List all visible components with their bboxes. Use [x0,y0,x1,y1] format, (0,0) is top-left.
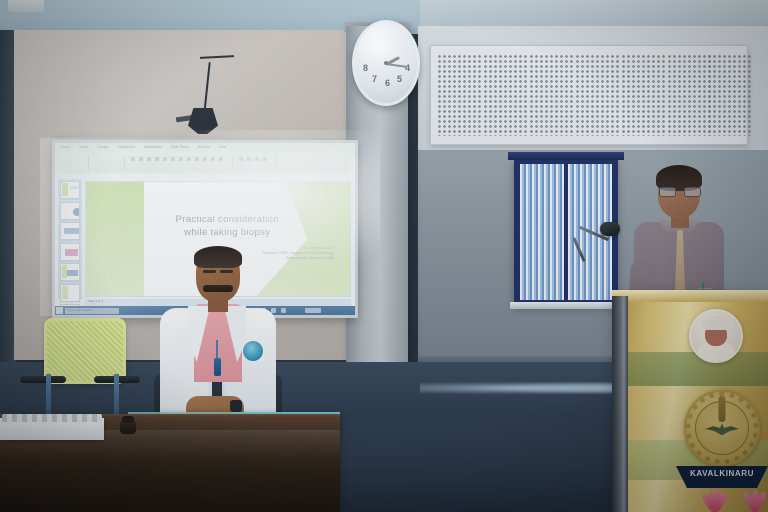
visitor-chair [36,318,128,410]
founder-portrait-medallion [689,309,743,363]
wrist-watch-icon [230,400,242,412]
microphone-icon [600,222,620,236]
crest-torch-icon [719,396,726,422]
id-badge [214,358,221,376]
curtain-rod [508,152,624,160]
desk-object-cap [122,416,134,423]
lecture-hall-photograph: 8 7 6 5 4 Home Insert Design Transitions… [0,0,768,512]
ribbon-tab-review[interactable]: Review [198,145,210,149]
podium-banner: KAVALKINARU [676,466,768,488]
ceiling-light-fixture [8,0,44,12]
clock-icon[interactable] [305,308,321,313]
podium-banner-text: KAVALKINARU [676,466,768,482]
curtain-panel-left [520,164,564,300]
clock-center-pin [384,61,388,65]
lanyard [216,340,218,360]
list-item[interactable] [60,243,80,261]
lotus-flower [740,486,768,512]
ribbon-tab-design[interactable]: Design [97,145,108,149]
clock-minute-hand [386,63,407,68]
college-emblem-patch [242,340,264,362]
list-item[interactable] [60,263,80,281]
clock-numeral-5: 5 [397,74,402,84]
moustache [203,285,233,292]
powerpoint-ribbon: Home Insert Design Transitions Animation… [55,143,355,177]
list-item[interactable] [60,222,80,240]
ribbon-tab-insert[interactable]: Insert [79,145,88,149]
ribbon-tab-slideshow[interactable]: Slide Show [171,145,189,149]
slide-decor-left [86,182,144,296]
glasses-icon [659,187,699,195]
slide-thumbnail-panel[interactable] [58,179,82,299]
chair-leg-left [46,374,51,414]
start-button-icon[interactable] [56,307,63,314]
slide-title: Practical consideration while taking bio… [123,213,332,239]
clock-numeral-7: 7 [372,74,377,84]
podium-band-upper [620,352,768,386]
list-item[interactable] [60,181,80,199]
seated-hair [194,246,242,268]
slide-title-line-1: Practical consideration [123,213,332,226]
chair-armrest-left [20,376,66,383]
college-crest-icon [684,390,760,466]
acoustic-panel [430,45,748,145]
list-item[interactable] [60,202,80,220]
clock-glare [352,20,401,61]
wall-clock-icon: 8 7 6 5 4 [352,20,420,106]
clock-numeral-4: 4 [405,63,410,73]
paper-stack-top [2,414,102,422]
podium-top-surface [612,290,768,302]
clock-numeral-6: 6 [385,78,390,88]
ribbon-command-row[interactable] [61,153,349,173]
list-item[interactable] [60,284,80,302]
ribbon-tab-home[interactable]: Home [61,145,70,149]
clock-numeral-8: 8 [363,63,368,73]
chair-leg-right [114,374,119,414]
ribbon-tab-view[interactable]: View [219,145,227,149]
lotus-flower [700,486,730,512]
search-input[interactable]: Type here to search [65,308,119,314]
ribbon-tab-animations[interactable]: Animations [144,145,162,149]
podium-front-edge [612,296,628,512]
battery-icon[interactable] [281,308,286,313]
window-sill [510,302,622,309]
ribbon-tab-strip[interactable]: Home Insert Design Transitions Animation… [61,145,226,149]
slide-title-line-2: while taking biopsy [123,226,332,239]
seated-faculty-member [158,248,276,424]
ribbon-tab-transitions[interactable]: Transitions [118,145,136,149]
